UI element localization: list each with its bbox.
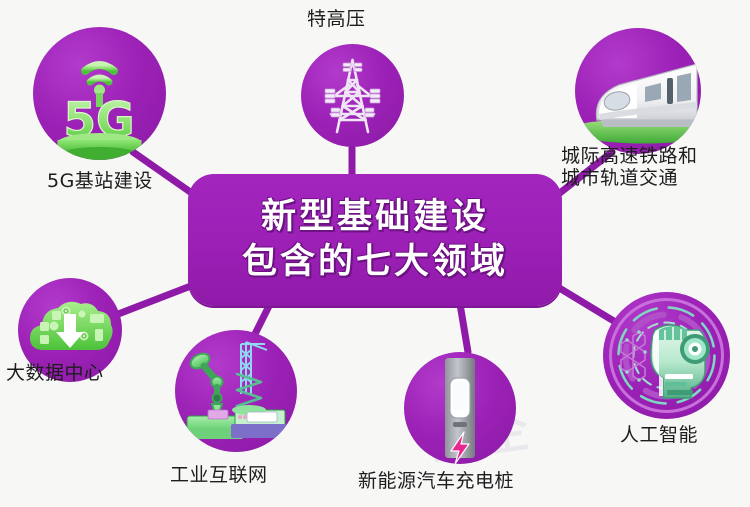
label-industrial-internet: 工业互联网 (170, 464, 268, 486)
central-title-line-1: 新型基础建设 (261, 195, 489, 240)
artificial-intelligence-icon (603, 292, 730, 419)
label-5g-base-station: 5G基站建设 (47, 170, 153, 192)
node-artificial-intelligence[interactable] (603, 292, 730, 419)
transmission-tower-icon (301, 44, 404, 147)
label-uhv: 特高压 (307, 8, 366, 30)
high-speed-train-icon (575, 28, 701, 154)
label-artificial-intelligence: 人工智能 (620, 424, 698, 446)
label-big-data-center: 大数据中心 (6, 362, 104, 384)
central-title-line-2: 包含的七大领域 (242, 240, 508, 285)
connector-ai (556, 286, 622, 326)
5g-base-station-icon: 5G (33, 27, 166, 160)
label-ev-charging-pile: 新能源汽车充电桩 (358, 470, 514, 492)
node-ev-charging-pile[interactable] (404, 352, 516, 464)
node-uhv[interactable] (301, 44, 404, 147)
ev-charging-pile-icon (404, 352, 516, 464)
infographic-canvas: 房企 房企 房企 房企 (0, 0, 750, 507)
connector-charging (460, 304, 468, 352)
node-5g-base-station[interactable]: 5G (33, 27, 166, 160)
node-industrial-internet[interactable] (175, 330, 297, 452)
central-title-plate: 新型基础建设 包含的七大领域 (188, 174, 562, 306)
connector-bigdata (108, 284, 196, 318)
node-intercity-rail[interactable] (575, 28, 701, 154)
industrial-internet-icon (175, 330, 297, 452)
label-intercity-rail: 城际高速铁路和 城市轨道交通 (561, 145, 698, 190)
